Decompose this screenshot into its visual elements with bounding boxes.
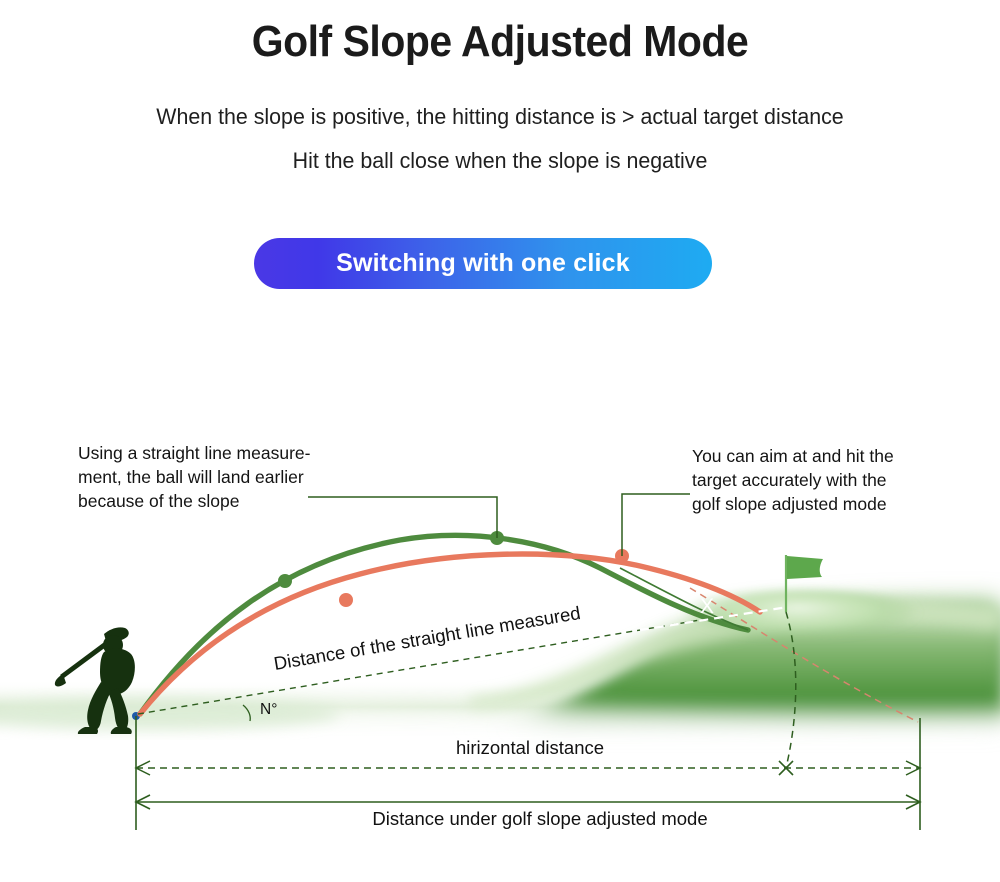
subtitle-line-1: When the slope is positive, the hitting … (25, 104, 975, 130)
trajectory-adjusted-dot-1 (278, 574, 292, 588)
trajectory-straight-dot-1 (339, 593, 353, 607)
putting-green-highlight (716, 592, 880, 624)
terrain-group (0, 586, 1000, 740)
straight-line-distance-label: Distance of the straight line measured (272, 602, 582, 674)
page-title: Golf Slope Adjusted Mode (35, 17, 965, 67)
horizontal-distance-label: hirizontal distance (456, 737, 604, 758)
flag-icon (787, 556, 823, 579)
switching-one-click-button[interactable]: Switching with one click (254, 238, 712, 289)
subtitle-line-2: Hit the ball close when the slope is neg… (25, 148, 975, 174)
leader-line-right (622, 494, 690, 556)
poster-page: Golf Slope Adjusted Mode When the slope … (0, 0, 1000, 882)
adjusted-distance-label: Distance under golf slope adjusted mode (372, 808, 707, 829)
leader-line-left (308, 497, 497, 538)
golf-slope-diagram: N° Distance of the straight line measure… (0, 300, 1000, 882)
angle-label: N° (260, 701, 277, 718)
target-x-marker: X (700, 595, 714, 618)
